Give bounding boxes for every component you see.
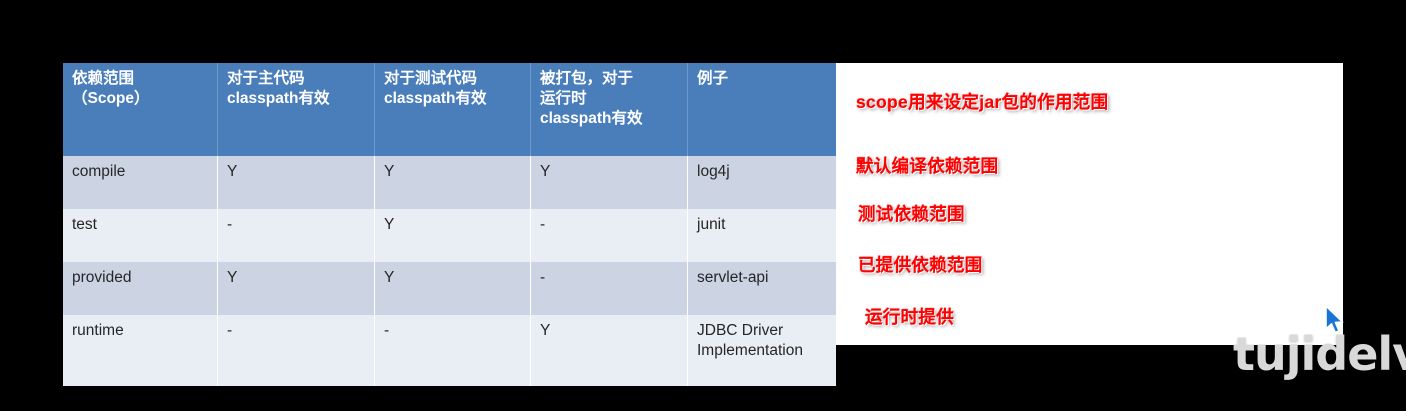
cell-main-classpath: Y bbox=[218, 156, 375, 209]
cell-scope: compile bbox=[63, 156, 218, 209]
column-header-runtime-classpath-line2: 运行时 bbox=[540, 89, 679, 109]
annotation-compile: 默认编译依赖范围 bbox=[856, 153, 998, 178]
column-header-main-classpath: 对于主代码 classpath有效 bbox=[218, 63, 375, 156]
cell-test-classpath: Y bbox=[375, 209, 531, 262]
cell-example: servlet-api bbox=[688, 262, 836, 315]
cell-test-classpath: Y bbox=[375, 262, 531, 315]
mouse-pointer-icon bbox=[1324, 305, 1346, 337]
cell-example-line2: Implementation bbox=[697, 341, 827, 361]
cell-main-classpath: Y bbox=[218, 262, 375, 315]
column-header-test-classpath-line2: classpath有效 bbox=[384, 89, 522, 109]
table-row: compile Y Y Y log4j bbox=[63, 156, 836, 209]
column-header-test-classpath: 对于测试代码 classpath有效 bbox=[375, 63, 531, 156]
column-header-runtime-classpath-line1: 被打包，对于 bbox=[540, 69, 679, 89]
cell-example: junit bbox=[688, 209, 836, 262]
annotation-runtime: 运行时提供 bbox=[865, 304, 954, 329]
column-header-main-classpath-line2: classpath有效 bbox=[227, 89, 366, 109]
annotation-test: 测试依赖范围 bbox=[858, 201, 965, 226]
dependency-scope-table: 依赖范围 （Scope） 对于主代码 classpath有效 对于测试代码 cl… bbox=[63, 63, 836, 386]
cell-runtime-classpath: - bbox=[531, 262, 688, 315]
cell-scope: runtime bbox=[63, 315, 218, 386]
cell-runtime-classpath: - bbox=[531, 209, 688, 262]
column-header-runtime-classpath: 被打包，对于 运行时 classpath有效 bbox=[531, 63, 688, 156]
column-header-scope: 依赖范围 （Scope） bbox=[63, 63, 218, 156]
annotation-provided: 已提供依赖范围 bbox=[858, 252, 983, 277]
table-header: 依赖范围 （Scope） 对于主代码 classpath有效 对于测试代码 cl… bbox=[63, 63, 836, 156]
column-header-example: 例子 bbox=[688, 63, 836, 156]
cell-runtime-classpath: Y bbox=[531, 315, 688, 386]
annotation-scope-purpose: scope用来设定jar包的作用范围 bbox=[856, 89, 1108, 114]
table-row: test - Y - junit bbox=[63, 209, 836, 262]
table-header-row: 依赖范围 （Scope） 对于主代码 classpath有效 对于测试代码 cl… bbox=[63, 63, 836, 156]
cell-test-classpath: - bbox=[375, 315, 531, 386]
column-header-runtime-classpath-line3: classpath有效 bbox=[540, 109, 679, 129]
column-header-test-classpath-line1: 对于测试代码 bbox=[384, 69, 522, 89]
slide-canvas: 依赖范围 （Scope） 对于主代码 classpath有效 对于测试代码 cl… bbox=[63, 63, 1343, 345]
cell-test-classpath: Y bbox=[375, 156, 531, 209]
watermark: tujidelv bbox=[1233, 327, 1406, 381]
cell-example: JDBC Driver Implementation bbox=[688, 315, 836, 386]
cell-main-classpath: - bbox=[218, 209, 375, 262]
cell-scope: test bbox=[63, 209, 218, 262]
cell-example-line1: JDBC Driver bbox=[697, 321, 827, 341]
table-body: compile Y Y Y log4j test - Y - junit pro… bbox=[63, 156, 836, 386]
column-header-scope-line2: （Scope） bbox=[72, 89, 209, 109]
cell-example-line1: servlet-api bbox=[697, 268, 827, 288]
cell-runtime-classpath: Y bbox=[531, 156, 688, 209]
column-header-main-classpath-line1: 对于主代码 bbox=[227, 69, 366, 89]
column-header-scope-line1: 依赖范围 bbox=[72, 69, 209, 89]
cell-example: log4j bbox=[688, 156, 836, 209]
cell-main-classpath: - bbox=[218, 315, 375, 386]
cell-example-line1: log4j bbox=[697, 162, 827, 182]
column-header-example-line1: 例子 bbox=[697, 69, 827, 89]
table-row: runtime - - Y JDBC Driver Implementation bbox=[63, 315, 836, 386]
table-row: provided Y Y - servlet-api bbox=[63, 262, 836, 315]
cell-scope: provided bbox=[63, 262, 218, 315]
cell-example-line1: junit bbox=[697, 215, 827, 235]
